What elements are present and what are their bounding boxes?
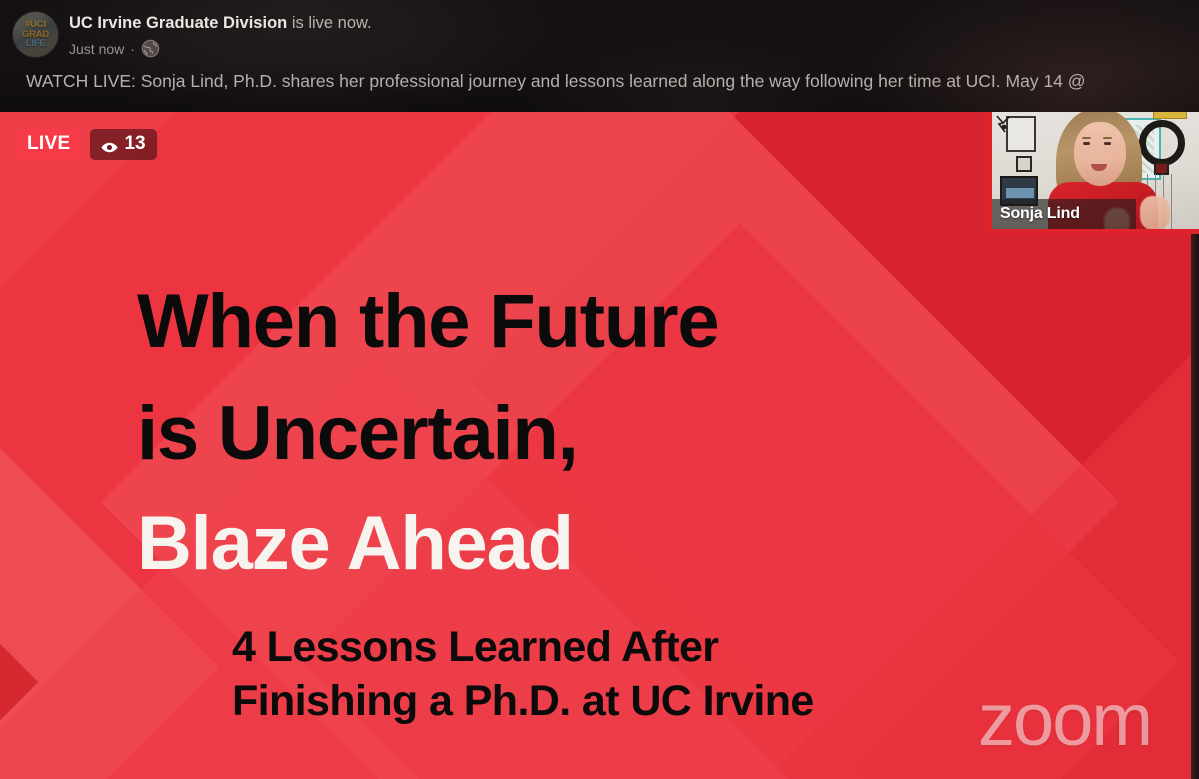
timestamp[interactable]: Just now bbox=[69, 41, 124, 57]
live-status-text: is live now. bbox=[287, 14, 371, 32]
slide-title-line-3: Blaze Ahead bbox=[137, 504, 573, 584]
facebook-live-player: #UCI GRAD LIFE UC Irvine Graduate Divisi… bbox=[0, 0, 1199, 779]
slide-subtitle-line-2: Finishing a Ph.D. at UC Irvine bbox=[232, 678, 814, 724]
zoom-watermark: zoom bbox=[978, 683, 1151, 757]
participant-name: Sonja Lind bbox=[992, 205, 1080, 223]
eye-icon bbox=[101, 138, 118, 151]
meta-separator: · bbox=[130, 41, 135, 57]
participant-name-bar: Sonja Lind bbox=[992, 199, 1136, 229]
bird-wall-decal-icon bbox=[994, 114, 1012, 134]
participant-video-thumbnail[interactable]: Sonja Lind bbox=[985, 112, 1199, 234]
wall-frame-2 bbox=[1016, 156, 1032, 172]
participant-eye-right bbox=[1104, 142, 1111, 145]
participant-brow-left bbox=[1082, 137, 1091, 139]
participant-hand-right bbox=[1140, 196, 1170, 229]
post-header: #UCI GRAD LIFE UC Irvine Graduate Divisi… bbox=[0, 0, 1199, 112]
avatar[interactable]: #UCI GRAD LIFE bbox=[13, 12, 58, 57]
wall-wreath-decor bbox=[1139, 120, 1185, 166]
slide-title-line-1: When the Future bbox=[137, 282, 719, 362]
post-meta: Just now · bbox=[69, 39, 372, 58]
wall-tape-decor bbox=[1153, 112, 1187, 119]
post-byline: UC Irvine Graduate Division is live now. bbox=[69, 13, 372, 33]
live-badge[interactable]: LIVE bbox=[16, 129, 81, 160]
live-badges: LIVE 13 bbox=[16, 129, 157, 160]
slide-subtitle-line-1: 4 Lessons Learned After bbox=[232, 624, 718, 670]
page-name[interactable]: UC Irvine Graduate Division bbox=[69, 14, 287, 32]
viewer-count: 13 bbox=[124, 133, 145, 155]
post-caption: WATCH LIVE: Sonja Lind, Ph.D. shares her… bbox=[13, 70, 1199, 92]
globe-icon[interactable] bbox=[141, 39, 160, 58]
participant-face bbox=[1074, 122, 1126, 186]
participant-brow-right bbox=[1103, 137, 1112, 139]
participant-eye-left bbox=[1083, 142, 1090, 145]
avatar-tint bbox=[13, 12, 58, 57]
slide-title-line-2: is Uncertain, bbox=[137, 394, 578, 474]
viewer-count-badge[interactable]: 13 bbox=[90, 129, 156, 160]
